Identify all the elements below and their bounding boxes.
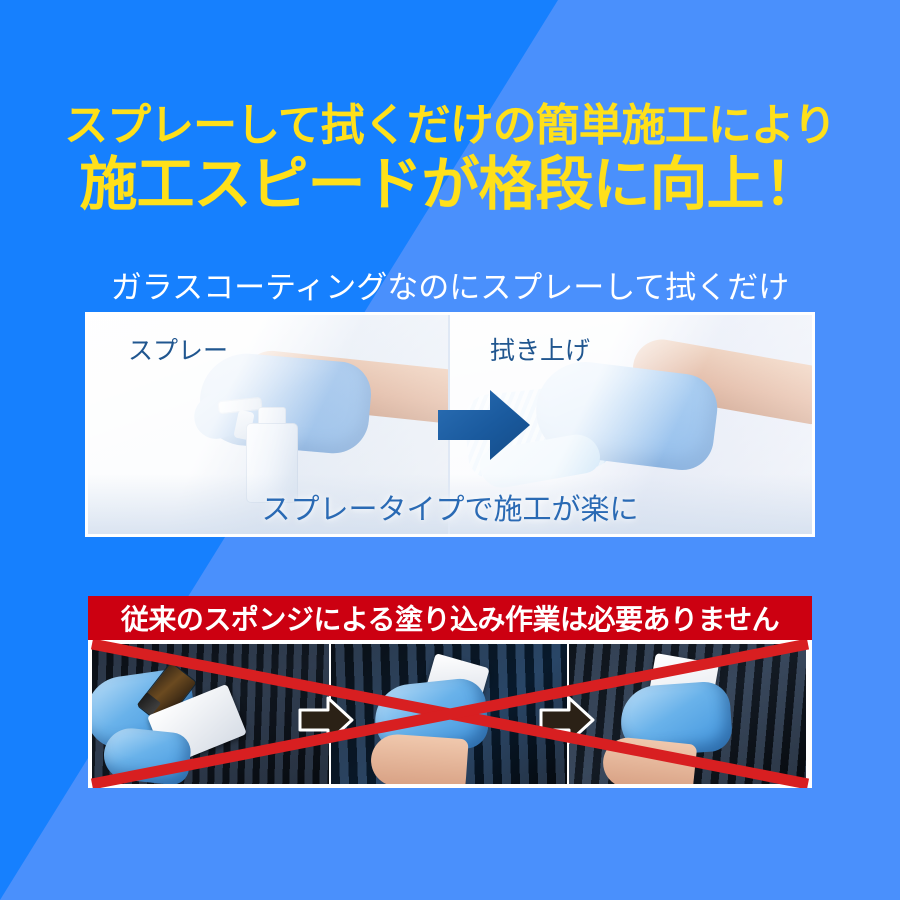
photo-block-caption: スプレータイプで施工が楽に — [85, 486, 815, 528]
forearm-shape — [369, 733, 468, 784]
legacy-method-strip — [88, 640, 812, 788]
right-arrow-blue-icon — [438, 388, 530, 462]
strip-pane-2 — [331, 644, 570, 784]
poster-canvas: スプレーして拭くだけの簡単施工により 施工スピードが格段に向上！ ガラスコーティ… — [0, 0, 900, 900]
blue-glove-icon — [102, 726, 193, 784]
strip-pane-3 — [569, 644, 808, 784]
headline-line-2: 施工スピードが格段に向上！ — [0, 156, 900, 214]
subheadline: ガラスコーティングなのにスプレーして拭くだけ — [0, 262, 900, 307]
red-banner-text: 従来のスポンジによる塗り込み作業は必要ありません — [121, 598, 779, 638]
pane-label-spray: スプレー — [128, 331, 228, 367]
headline-line-1: スプレーして拭くだけの簡単施工により — [0, 104, 900, 148]
pane-label-wipe: 拭き上げ — [490, 331, 590, 367]
right-arrow-dark-icon-2 — [539, 694, 595, 746]
strip-pane-1 — [92, 644, 331, 784]
forearm-shape — [601, 735, 698, 784]
red-banner: 従来のスポンジによる塗り込み作業は必要ありません — [88, 596, 812, 640]
right-arrow-dark-icon-1 — [298, 694, 354, 746]
headline: スプレーして拭くだけの簡単施工により 施工スピードが格段に向上！ — [0, 104, 900, 214]
